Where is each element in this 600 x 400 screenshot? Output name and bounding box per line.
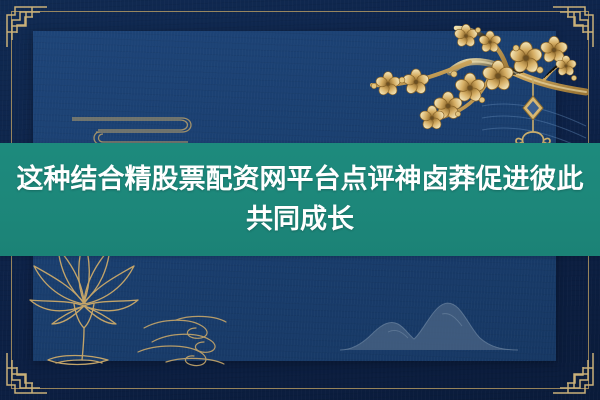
caption-band: 这种结合精股票配资网平台点评神卤莽促进彼此共同成长 bbox=[0, 143, 600, 256]
caption-headline: 这种结合精股票配资网平台点评神卤莽促进彼此共同成长 bbox=[10, 160, 590, 240]
poster-canvas: 这种结合精股票配资网平台点评神卤莽促进彼此共同成长 bbox=[0, 0, 600, 400]
